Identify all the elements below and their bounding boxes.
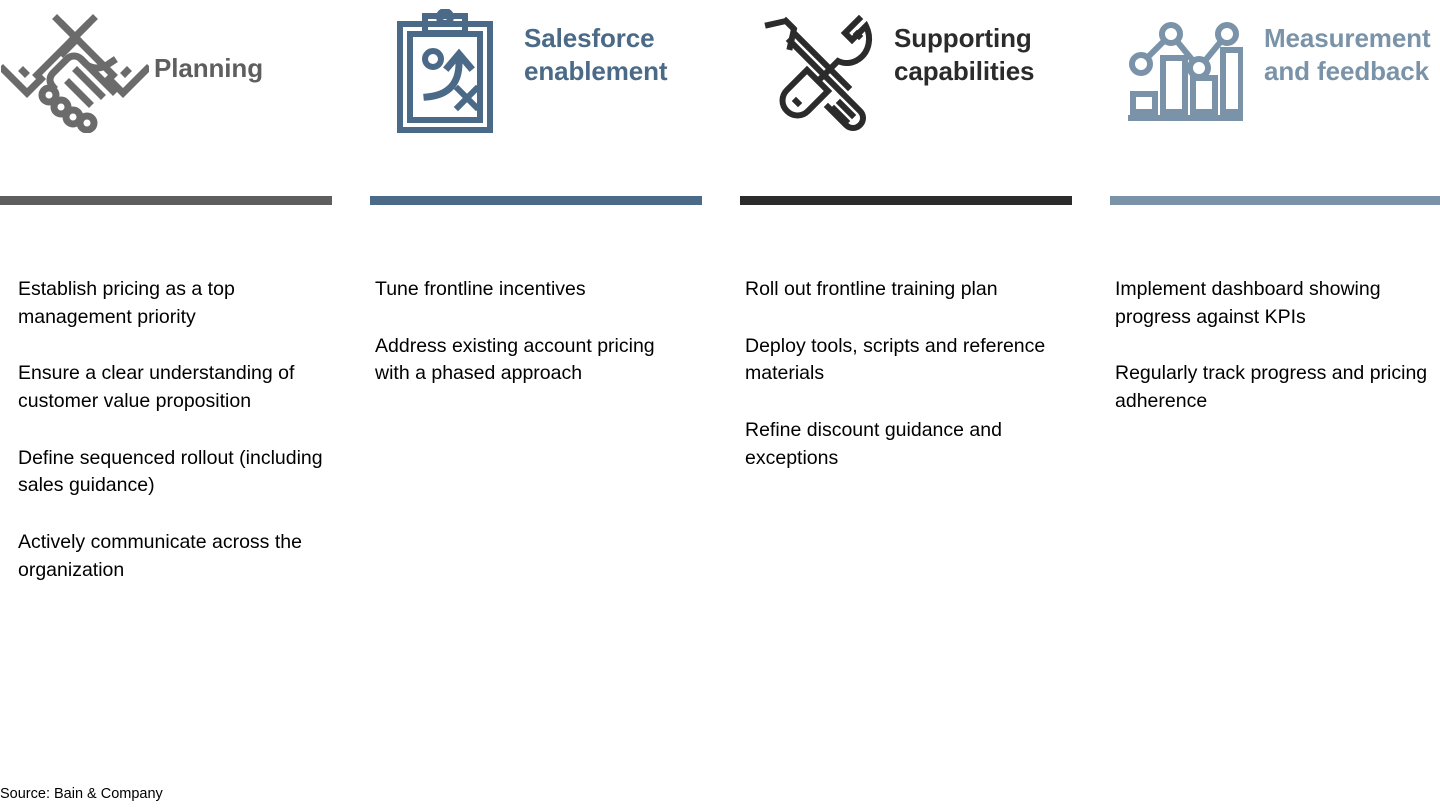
column-rule-planning xyxy=(0,196,332,205)
bullet-item: Roll out frontline training plan xyxy=(745,276,1085,304)
column-header-supporting-capabilities: Supporting capabilities xyxy=(740,0,1072,180)
bullet-list-salesforce-enablement: Tune frontline incentives Address existi… xyxy=(375,276,675,388)
bullet-item: Tune frontline incentives xyxy=(375,276,675,304)
bullet-item: Implement dashboard showing progress aga… xyxy=(1115,276,1440,331)
clipboard-strategy-icon xyxy=(370,0,520,140)
bullet-list-supporting-capabilities: Roll out frontline training plan Deploy … xyxy=(745,276,1085,472)
column-rule-salesforce-enablement xyxy=(370,196,702,205)
column-grid: Planning Establish pricing as a top mana… xyxy=(0,0,1440,760)
bullet-item: Deploy tools, scripts and reference mate… xyxy=(745,333,1085,388)
bullet-item: Refine discount guidance and exceptions xyxy=(745,417,1085,472)
column-supporting-capabilities: Supporting capabilities Roll out frontli… xyxy=(740,0,1072,760)
column-title-salesforce-enablement: Salesforce enablement xyxy=(520,0,702,89)
column-measurement-and-feedback: Measurement and feedback Implement dashb… xyxy=(1110,0,1440,760)
bullet-item: Actively communicate across the organiza… xyxy=(18,529,342,584)
bullet-item: Address existing account pricing with a … xyxy=(375,333,675,388)
bullet-list-measurement-and-feedback: Implement dashboard showing progress aga… xyxy=(1115,276,1440,416)
bullet-item: Define sequenced rollout (including sale… xyxy=(18,445,342,500)
column-title-supporting-capabilities: Supporting capabilities xyxy=(890,0,1072,89)
column-header-planning: Planning xyxy=(0,0,332,180)
bullet-list-planning: Establish pricing as a top management pr… xyxy=(18,276,342,585)
column-salesforce-enablement: Salesforce enablement Tune frontline inc… xyxy=(370,0,702,760)
wrench-screwdriver-icon xyxy=(740,0,890,140)
bullet-item: Ensure a clear understanding of customer… xyxy=(18,360,342,415)
bullet-item: Establish pricing as a top management pr… xyxy=(18,276,342,331)
column-title-measurement-and-feedback: Measurement and feedback xyxy=(1260,0,1440,89)
column-header-salesforce-enablement: Salesforce enablement xyxy=(370,0,702,180)
column-rule-supporting-capabilities xyxy=(740,196,1072,205)
source-note: Source: Bain & Company xyxy=(0,786,163,803)
column-rule-measurement-and-feedback xyxy=(1110,196,1440,205)
slide-canvas: Planning Establish pricing as a top mana… xyxy=(0,0,1440,810)
bar-chart-line-icon xyxy=(1110,0,1260,140)
handshake-icon xyxy=(0,0,150,140)
column-planning: Planning Establish pricing as a top mana… xyxy=(0,0,332,760)
column-header-measurement-and-feedback: Measurement and feedback xyxy=(1110,0,1440,180)
column-title-planning: Planning xyxy=(150,0,332,85)
bullet-item: Regularly track progress and pricing adh… xyxy=(1115,360,1440,415)
